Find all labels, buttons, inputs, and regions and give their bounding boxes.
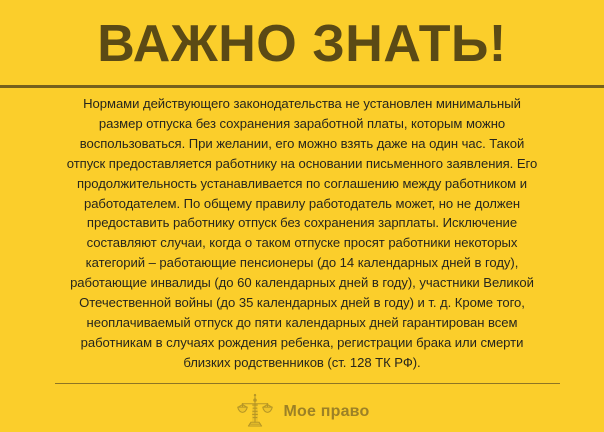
body-line: предоставить работнику отпуск без сохран… xyxy=(36,213,568,233)
body-line: работодателем. По общему правилу работод… xyxy=(36,194,568,214)
body-line: неоплачиваемый отпуск до пяти календарны… xyxy=(36,313,568,333)
poster-container: ВАЖНО ЗНАТЬ! Нормами действующего законо… xyxy=(0,0,604,432)
body-line: отпуск предоставляется работнику на осно… xyxy=(36,154,568,174)
body-line: составляют случаи, когда о таком отпуске… xyxy=(36,233,568,253)
brand-name: Мое право xyxy=(284,403,370,421)
divider-bottom xyxy=(55,383,560,384)
body-line: Нормами действующего законодательства не… xyxy=(36,94,568,114)
body-line: работающие инвалиды (до 60 календарных д… xyxy=(36,273,568,293)
body-line: близких родственников (ст. 128 ТК РФ). xyxy=(36,353,568,373)
page-title: ВАЖНО ЗНАТЬ! xyxy=(97,18,507,70)
body-line: Отечественной войны (до 35 календарных д… xyxy=(36,293,568,313)
footer-watermark: Мое право xyxy=(0,389,604,432)
body-text-block: Нормами действующего законодательства не… xyxy=(36,94,568,378)
body-line: воспользоваться. При желании, его можно … xyxy=(36,134,568,154)
body-line: размер отпуска без сохранения заработной… xyxy=(36,114,568,134)
scales-of-justice-icon xyxy=(235,391,275,431)
title-area: ВАЖНО ЗНАТЬ! xyxy=(0,0,604,84)
body-line: продолжительность устанавливается по сог… xyxy=(36,174,568,194)
divider-top xyxy=(0,85,604,88)
body-line: работникам в случаях рождения ребенка, р… xyxy=(36,333,568,353)
body-line: категорий – работающие пенсионеры (до 14… xyxy=(36,253,568,273)
